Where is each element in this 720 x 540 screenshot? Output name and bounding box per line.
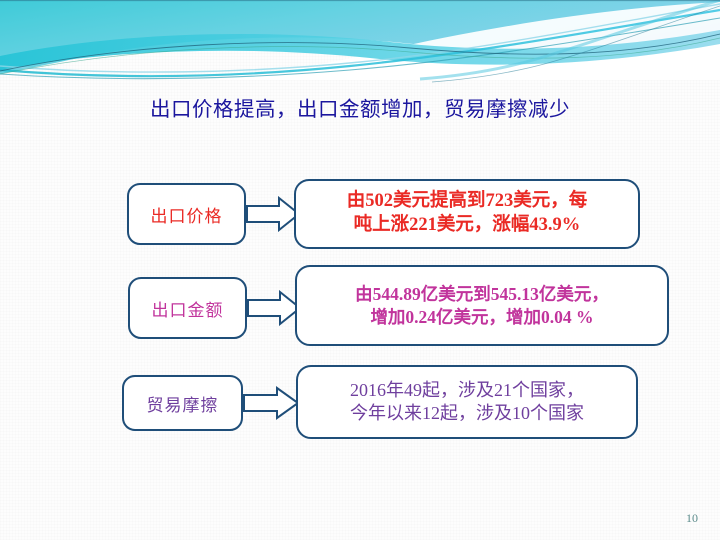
label-box-export-value[interactable]: 出口金额	[128, 277, 247, 339]
content-line: 由544.89亿美元到545.13亿美元，	[355, 283, 609, 305]
label-box-export-price[interactable]: 出口价格	[127, 183, 246, 245]
slide-canvas: 出口价格提高，出口金额增加，贸易摩擦减少 出口价格 由502美元提高到723美元…	[0, 0, 720, 540]
label-box-text: 出口金额	[152, 296, 224, 321]
content-box-export-value[interactable]: 由544.89亿美元到545.13亿美元， 增加0.24亿美元，增加0.04 %	[295, 265, 669, 346]
content-box-export-price[interactable]: 由502美元提高到723美元，每 吨上涨221美元，涨幅43.9%	[294, 179, 640, 249]
content-line: 吨上涨221美元，涨幅43.9%	[354, 214, 581, 238]
content-box-trade-friction[interactable]: 2016年49起，涉及21个国家， 今年以来12起，涉及10个国家	[296, 365, 638, 439]
content-line: 增加0.24亿美元，增加0.04 %	[370, 306, 593, 328]
page-title: 出口价格提高，出口金额增加，贸易摩擦减少	[0, 92, 720, 122]
header-wave-banner	[0, 0, 720, 86]
content-line: 今年以来12起，涉及10个国家	[350, 402, 584, 425]
label-box-text: 出口价格	[151, 202, 223, 227]
content-line: 2016年49起，涉及21个国家，	[350, 379, 584, 402]
label-box-trade-friction[interactable]: 贸易摩擦	[122, 375, 243, 431]
content-line: 由502美元提高到723美元，每	[347, 190, 588, 214]
page-number: 10	[686, 511, 698, 526]
right-block-arrow-icon	[247, 290, 302, 326]
label-box-text: 贸易摩擦	[147, 391, 219, 416]
right-block-arrow-icon	[246, 196, 301, 232]
right-block-arrow-icon	[243, 386, 300, 420]
